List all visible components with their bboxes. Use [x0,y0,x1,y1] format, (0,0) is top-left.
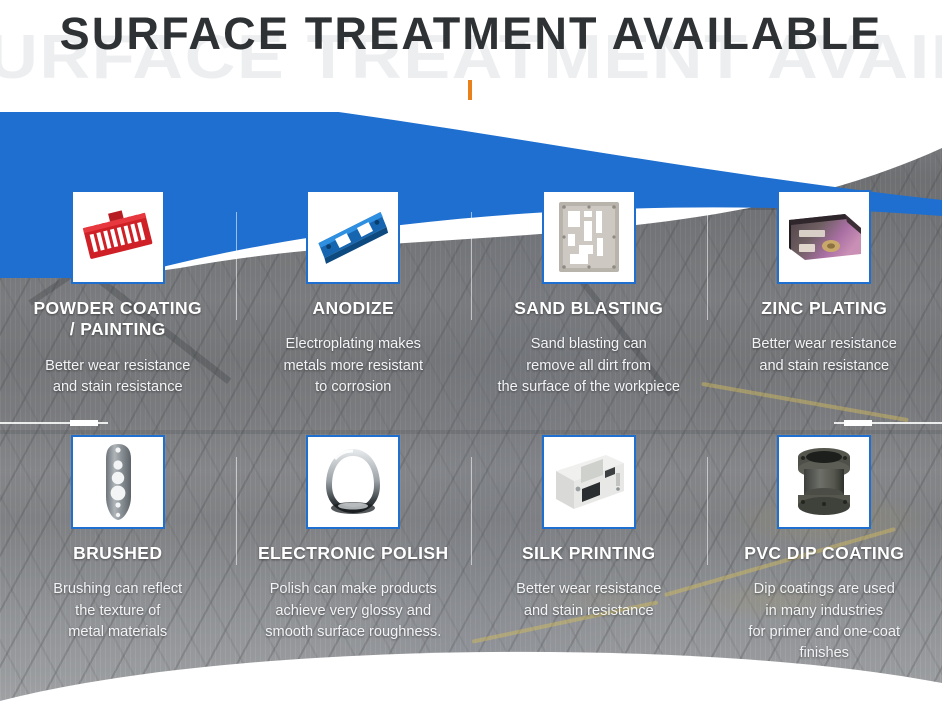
sandblasted-aluminum-frame-part-icon [553,198,625,276]
treatment-title: POWDER COATING / PAINTING [33,298,202,341]
treatment-item-powder-coating[interactable]: POWDER COATING / PAINTING Better wear re… [0,190,236,405]
treatment-description: Brushing can reflect the texture of meta… [53,579,182,642]
surface-treatment-poster: SURFACE TREATMENT AVAILABLE SURFACE TREA… [0,0,942,715]
orange-accent-tick [468,80,472,100]
treatment-title: SAND BLASTING [514,298,663,319]
treatment-description: Better wear resistance and stain resista… [45,356,190,398]
treatment-row-1: POWDER COATING / PAINTING Better wear re… [0,190,942,405]
treatment-title: ELECTRONIC POLISH [258,543,449,564]
powder-coating-thumbnail [71,190,165,284]
zinc-plated-chassis-part-icon [783,206,865,268]
treatment-grid: POWDER COATING / PAINTING Better wear re… [0,190,942,680]
pvc-dipped-flange-sleeve-part-icon [786,444,862,520]
treatment-item-anodize[interactable]: ANODIZE Electroplating makes metals more… [236,190,472,405]
brushed-metal-lever-part-icon [93,441,143,523]
treatment-item-sand-blasting[interactable]: SAND BLASTING Sand blasting can remove a… [471,190,707,405]
sand-blasting-thumbnail [542,190,636,284]
treatment-title: PVC DIP COATING [744,543,904,564]
treatment-title: BRUSHED [73,543,162,564]
silk-printed-enclosure-part-icon [548,449,630,515]
treatment-title: ZINC PLATING [761,298,887,319]
treatment-item-pvc-dip-coating[interactable]: PVC DIP COATING Dip coatings are used in… [707,435,942,680]
treatment-description: Polish can make products achieve very gl… [265,579,441,642]
pvc-dip-coating-thumbnail [777,435,871,529]
treatment-item-silk-printing[interactable]: SILK PRINTING Better wear resistance and… [471,435,707,680]
treatment-description: Electroplating makes metals more resista… [284,334,424,397]
treatment-item-brushed[interactable]: BRUSHED Brushing can reflect the texture… [0,435,236,680]
blue-anodized-bracket-part-icon [312,202,394,272]
brushed-thumbnail [71,435,165,529]
electronic-polish-thumbnail [306,435,400,529]
treatment-title: SILK PRINTING [522,543,656,564]
treatment-item-electronic-polish[interactable]: ELECTRONIC POLISH Polish can make produc… [236,435,472,680]
anodize-thumbnail [306,190,400,284]
treatment-title: ANODIZE [312,298,394,319]
treatment-description: Better wear resistance and stain resista… [752,334,897,376]
page-title: SURFACE TREATMENT AVAILABLE [0,8,942,60]
treatment-description: Dip coatings are used in many industries… [748,579,900,664]
treatment-row-2: BRUSHED Brushing can reflect the texture… [0,435,942,680]
treatment-item-zinc-plating[interactable]: ZINC PLATING Better wear resistance and … [707,190,942,405]
polished-ring-part-icon [313,443,393,521]
treatment-description: Better wear resistance and stain resista… [516,579,661,621]
red-slotted-tray-part-icon [78,202,158,272]
treatment-description: Sand blasting can remove all dirt from t… [497,334,680,397]
zinc-plating-thumbnail [777,190,871,284]
silk-printing-thumbnail [542,435,636,529]
